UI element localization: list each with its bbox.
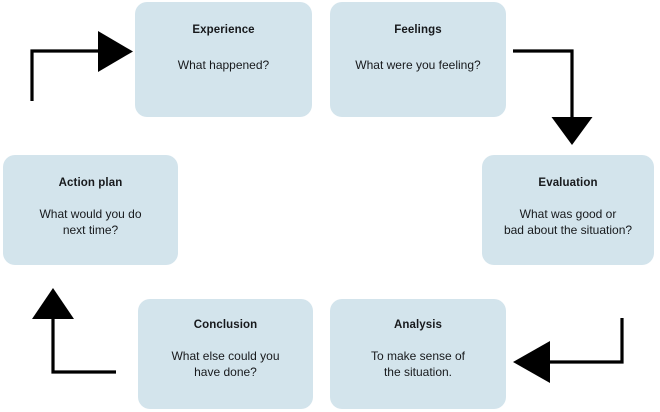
node-feelings-title: Feelings [330,24,506,38]
arrow-into-action-plan-icon [32,288,116,372]
node-conclusion[interactable]: Conclusion What else could you have done… [138,299,313,409]
diagram-canvas: Experience What happened? Feelings What … [0,0,660,412]
node-analysis-title: Analysis [330,319,506,333]
node-experience[interactable]: Experience What happened? [135,2,312,117]
node-evaluation-title: Evaluation [482,177,654,191]
node-analysis-body: To make sense of the situation. [330,348,506,380]
node-action-plan[interactable]: Action plan What would you do next time? [3,155,178,265]
node-experience-body: What happened? [135,57,312,73]
node-evaluation-body: What was good or bad about the situation… [482,206,654,238]
node-feelings-body: What were you feeling? [330,57,506,73]
node-conclusion-body: What else could you have done? [138,348,313,380]
node-experience-title: Experience [135,24,312,38]
node-feelings[interactable]: Feelings What were you feeling? [330,2,506,117]
arrow-into-experience-icon [32,31,133,101]
node-conclusion-title: Conclusion [138,319,313,333]
node-analysis[interactable]: Analysis To make sense of the situation. [330,299,506,409]
node-evaluation[interactable]: Evaluation What was good or bad about th… [482,155,654,265]
node-action-plan-body: What would you do next time? [3,206,178,238]
arrow-into-analysis-icon [513,318,622,383]
arrow-into-evaluation-icon [513,51,593,145]
node-action-plan-title: Action plan [3,177,178,191]
